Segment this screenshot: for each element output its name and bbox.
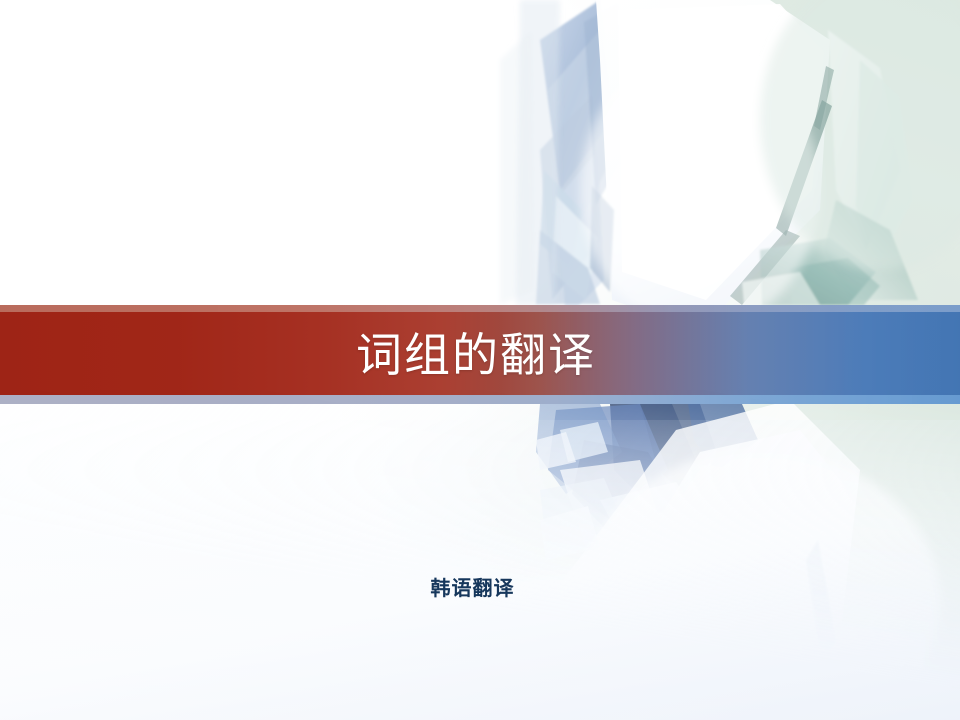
- slide-title: 词组的翻译: [0, 305, 960, 404]
- title-slide: 词组的翻译 韩语翻译: [0, 0, 960, 720]
- title-banner: 词组的翻译: [0, 305, 960, 404]
- background-bottom-blue-wash: [0, 420, 960, 720]
- crystal-haze-left: [500, 0, 560, 305]
- slide-subtitle: 韩语翻译: [0, 572, 945, 601]
